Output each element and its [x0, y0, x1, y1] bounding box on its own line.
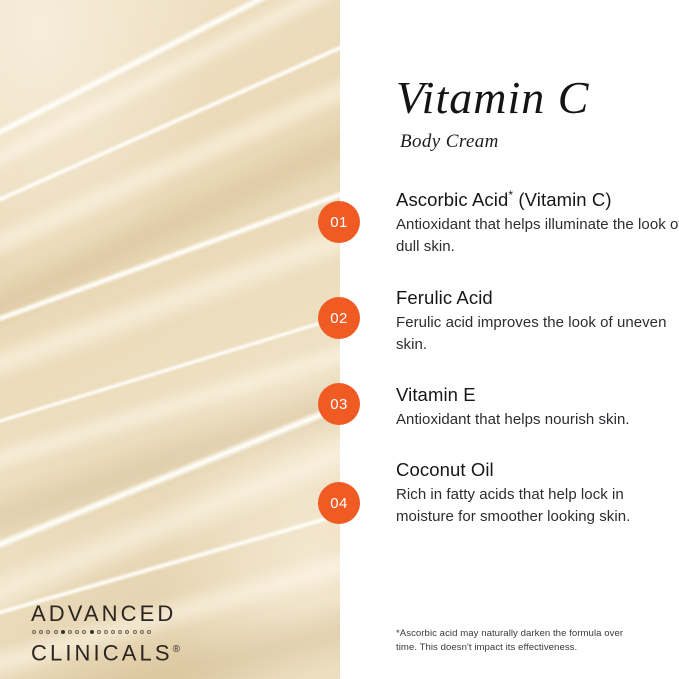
ingredient-name-text: Ascorbic Acid	[396, 189, 508, 210]
brand-name-line1: ADVANCED	[31, 601, 180, 626]
divider-dot-filled	[61, 630, 65, 634]
registered-trademark-icon: ®	[173, 644, 180, 655]
divider-dot	[133, 630, 137, 634]
page-subtitle: Body Cream	[400, 130, 676, 154]
divider-dot	[111, 630, 115, 634]
divider-dot-filled	[90, 630, 94, 634]
divider-dot	[32, 630, 36, 634]
divider-dot	[75, 630, 79, 634]
divider-dot	[46, 630, 50, 634]
ingredient-name: Vitamin E	[396, 383, 679, 406]
brand-dot-divider	[32, 627, 180, 636]
divider-dot	[125, 630, 129, 634]
ingredient-name-text: Vitamin E	[396, 384, 476, 405]
step-badge-02: 02	[318, 297, 360, 339]
ingredient-description: Antioxidant that helps illuminate the lo…	[396, 214, 679, 258]
divider-dot	[104, 630, 108, 634]
brand-name-line2-text: CLINICALS	[31, 640, 173, 665]
page-title: Vitamin C	[396, 72, 676, 124]
cream-base-gradient	[0, 0, 340, 679]
ingredient-name-suffix: (Vitamin C)	[513, 189, 612, 210]
divider-dot	[39, 630, 43, 634]
divider-dot	[97, 630, 101, 634]
ingredient-item: Ferulic Acid Ferulic acid improves the l…	[396, 286, 679, 356]
ingredient-description: Rich in fatty acids that help lock in mo…	[396, 484, 679, 528]
divider-dot	[118, 630, 122, 634]
divider-dot	[82, 630, 86, 634]
divider-dot	[54, 630, 58, 634]
divider-dot	[140, 630, 144, 634]
ingredient-name: Ferulic Acid	[396, 286, 679, 309]
step-badge-03: 03	[318, 383, 360, 425]
ingredient-name: Coconut Oil	[396, 458, 679, 481]
divider-dot	[68, 630, 72, 634]
divider-dot	[147, 630, 151, 634]
ingredient-description: Antioxidant that helps nourish skin.	[396, 409, 679, 431]
brand-name-line2: CLINICALS®	[31, 637, 180, 665]
step-badge-04: 04	[318, 482, 360, 524]
ingredient-name-text: Coconut Oil	[396, 459, 494, 480]
ingredient-name: Ascorbic Acid* (Vitamin C)	[396, 188, 679, 211]
title-block: Vitamin C Body Cream	[396, 72, 676, 154]
ingredient-description: Ferulic acid improves the look of uneven…	[396, 312, 679, 356]
ingredient-item: Coconut Oil Rich in fatty acids that hel…	[396, 458, 679, 528]
cream-texture-photo: ADVANCED CLINICALS®	[0, 0, 340, 679]
product-infographic: ADVANCED CLINICALS®	[0, 0, 679, 679]
content-panel: Vitamin C Body Cream Ascorbic Acid* (Vit…	[340, 0, 679, 679]
ingredient-item: Ascorbic Acid* (Vitamin C) Antioxidant t…	[396, 188, 679, 258]
brand-logo: ADVANCED CLINICALS®	[31, 601, 180, 665]
ingredient-name-text: Ferulic Acid	[396, 287, 493, 308]
ingredient-item: Vitamin E Antioxidant that helps nourish…	[396, 383, 679, 431]
footnote-text: *Ascorbic acid may naturally darken the …	[396, 627, 644, 654]
step-badge-01: 01	[318, 201, 360, 243]
